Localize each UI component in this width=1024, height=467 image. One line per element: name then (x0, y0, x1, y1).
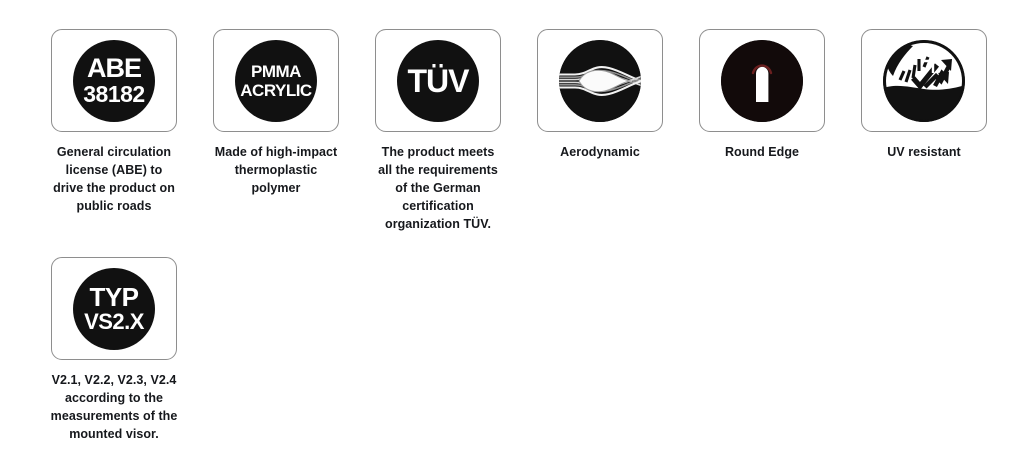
feature-item-round-edge: Round Edge (698, 29, 826, 233)
badge-card-typ: TYP VS2.X (51, 257, 177, 360)
airflow-streamlines-icon (559, 40, 641, 122)
badge-line-1: TYP (89, 284, 138, 310)
feature-item-pmma: PMMA ACRYLIC Made of high-impact thermop… (212, 29, 340, 233)
badge-line-2: 38182 (83, 83, 144, 106)
badge-card-round-edge (699, 29, 825, 132)
typ-version-badge: TYP VS2.X (73, 268, 155, 350)
feature-caption: V2.1, V2.2, V2.3, V2.4 according to the … (49, 371, 179, 443)
feature-caption: Round Edge (697, 143, 827, 161)
feature-caption: Aerodynamic (535, 143, 665, 161)
badge-card-uv-resistant (861, 29, 987, 132)
badge-line-2: ACRYLIC (240, 82, 311, 99)
feature-item-typ: TYP VS2.X V2.1, V2.2, V2.3, V2.4 accordi… (50, 257, 178, 443)
feature-badge-grid: ABE 38182 General circulation license (A… (50, 29, 1024, 467)
badge-card-tuv: TÜV (375, 29, 501, 132)
pmma-acrylic-badge: PMMA ACRYLIC (235, 40, 317, 122)
badge-card-aerodynamic (537, 29, 663, 132)
badge-card-pmma: PMMA ACRYLIC (213, 29, 339, 132)
round-edge-profile-icon (721, 40, 803, 122)
sun-uv-resistant-icon (883, 40, 965, 122)
feature-caption: General circulation license (ABE) to dri… (49, 143, 179, 215)
abe-approval-badge: ABE 38182 (73, 40, 155, 122)
badge-line-1: ABE (87, 55, 141, 82)
badge-line-1: TÜV (408, 65, 469, 97)
feature-item-aerodynamic: Aerodynamic (536, 29, 664, 233)
feature-item-tuv: TÜV The product meets all the requiremen… (374, 29, 502, 233)
badge-line-2: VS2.X (84, 311, 144, 333)
feature-item-abe: ABE 38182 General circulation license (A… (50, 29, 178, 233)
feature-item-uv-resistant: UV resistant (860, 29, 988, 233)
tuv-certification-badge: TÜV (397, 40, 479, 122)
feature-caption: UV resistant (859, 143, 989, 161)
badge-card-abe: ABE 38182 (51, 29, 177, 132)
feature-caption: The product meets all the requirements o… (373, 143, 503, 233)
feature-caption: Made of high-impact thermoplastic polyme… (211, 143, 341, 197)
badge-line-1: PMMA (251, 63, 301, 80)
